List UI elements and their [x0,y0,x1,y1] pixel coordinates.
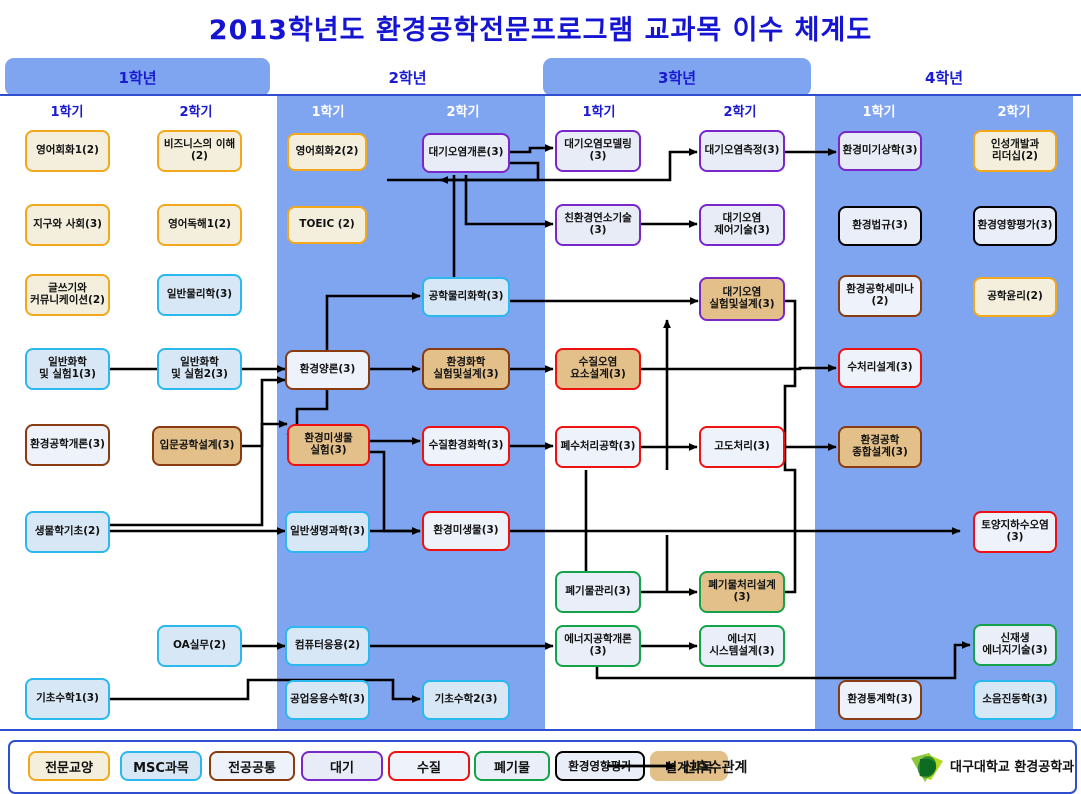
course-box[interactable]: 영어회화1(2) [25,130,110,172]
course-label: 친환경연소기술(3) [564,213,632,237]
course-label: 글쓰기와커뮤니케이션(2) [30,283,105,307]
course-box[interactable]: 환경영향평가(3) [973,206,1057,246]
course-box[interactable]: 일반물리학(3) [157,274,242,316]
course-label: 폐기물관리(3) [565,586,630,598]
course-box[interactable]: 컴퓨터응용(2) [285,626,370,666]
course-box[interactable]: 기초수학1(3) [25,678,110,720]
course-box[interactable]: 고도처리(3) [699,426,785,468]
course-box[interactable]: 대기오염모델링(3) [555,130,641,172]
course-label: 폐수처리공학(3) [561,441,636,453]
course-label: 영어회화1(2) [36,145,99,157]
course-box[interactable]: 글쓰기와커뮤니케이션(2) [25,274,110,316]
course-box[interactable]: 폐수처리공학(3) [555,426,641,468]
course-label: 생물학기초(2) [35,526,100,538]
course-box[interactable]: 인성개발과리더십(2) [973,130,1057,172]
course-box[interactable]: 대기오염실험및설계(3) [699,277,785,321]
course-label: 신재생에너지기술(3) [982,633,1047,657]
course-label: 대기오염개론(3) [429,147,504,159]
course-label: 환경통계학(3) [847,694,912,706]
course-label: 수질오염요소설계(3) [570,357,626,381]
course-box[interactable]: 생물학기초(2) [25,511,110,553]
course-box[interactable]: 환경통계학(3) [838,680,922,720]
course-box[interactable]: 환경공학종합설계(3) [838,426,922,468]
course-label: 대기오염실험및설계(3) [709,287,774,311]
course-box[interactable]: 공학물리화학(3) [422,277,510,317]
course-label: 지구와 사회(3) [33,219,102,231]
course-box[interactable]: 친환경연소기술(3) [555,204,641,246]
course-box[interactable]: 수처리설계(3) [838,348,922,388]
course-box[interactable]: 영어회화2(2) [287,133,367,171]
course-label: 고도처리(3) [714,441,770,453]
course-label: 대기오염측정(3) [705,145,780,157]
course-box[interactable]: 토양지하수오염(3) [973,511,1057,553]
course-box[interactable]: 신재생에너지기술(3) [973,624,1057,666]
course-label: 환경법규(3) [852,220,908,232]
course-box[interactable]: 환경미생물실험(3) [287,424,370,466]
course-box[interactable]: 환경화학실험및설계(3) [422,348,510,390]
course-box[interactable]: 폐기물관리(3) [555,571,641,613]
course-label: 인성개발과리더십(2) [991,139,1039,163]
course-label: 환경미기상학(3) [843,145,918,157]
course-box[interactable]: 일반화학및 실험2(3) [157,348,242,390]
course-label: 환경양론(3) [300,364,356,376]
course-label: 일반화학및 실험1(3) [39,357,96,381]
course-box[interactable]: 수질오염요소설계(3) [555,348,641,390]
prerequisite-arrows [0,0,1081,794]
course-label: 환경공학세미나(2) [846,284,914,308]
course-label: TOEIC (2) [299,219,354,231]
course-label: 수질환경화학(3) [429,440,504,452]
course-box[interactable]: 지구와 사회(3) [25,204,110,246]
course-label: 공학윤리(2) [987,291,1043,303]
course-label: 기초수학2(3) [435,694,498,706]
course-box[interactable]: 수질환경화학(3) [422,426,510,466]
course-box[interactable]: 환경공학세미나(2) [838,275,922,317]
course-box[interactable]: 환경법규(3) [838,206,922,246]
course-label: 환경영향평가(3) [978,220,1053,232]
course-box[interactable]: OA실무(2) [157,625,242,667]
course-label: 컴퓨터응용(2) [295,640,360,652]
diagram-canvas: 2013학년도 환경공학전문프로그램 교과목 이수 체계도 1학년 2학년 3학… [0,0,1081,794]
course-box[interactable]: 환경공학개론(3) [25,424,110,466]
course-box[interactable]: 대기오염제어기술(3) [699,204,785,246]
course-box[interactable]: 환경미기상학(3) [838,131,922,171]
course-label: 환경미생물(3) [433,525,498,537]
course-box[interactable]: 환경미생물(3) [422,511,510,551]
course-label: 일반물리학(3) [167,289,232,301]
course-box[interactable]: 에너지시스템설계(3) [699,625,785,667]
course-box[interactable]: 공학윤리(2) [973,277,1057,317]
course-box[interactable]: 환경양론(3) [285,350,370,390]
course-box[interactable]: 일반생명과학(3) [285,511,370,553]
course-label: 에너지시스템설계(3) [709,634,774,658]
course-label: 환경화학실험및설계(3) [433,357,498,381]
course-label: 에너지공학개론(3) [564,634,632,658]
course-box[interactable]: 기초수학2(3) [422,680,510,720]
course-label: 영어회화2(2) [296,146,359,158]
course-box[interactable]: 공업응용수학(3) [285,680,370,720]
course-box[interactable]: 소음진동학(3) [973,680,1057,720]
course-box[interactable]: 일반화학및 실험1(3) [25,348,110,390]
course-label: 일반화학및 실험2(3) [171,357,228,381]
course-label: 영어독해1(2) [168,219,231,231]
course-box[interactable]: 영어독해1(2) [157,204,242,246]
course-box[interactable]: 대기오염측정(3) [699,130,785,172]
course-label: 공업응용수학(3) [290,694,365,706]
course-label: 수처리설계(3) [847,362,912,374]
course-label: 입문공학설계(3) [160,440,235,452]
course-box[interactable]: 비즈니스의 이해(2) [157,130,242,172]
course-box[interactable]: 폐기물처리설계(3) [699,571,785,613]
course-label: 대기오염모델링(3) [564,139,632,163]
course-box[interactable]: 입문공학설계(3) [152,426,242,466]
course-label: 공학물리화학(3) [429,291,504,303]
course-label: 환경공학개론(3) [30,439,105,451]
course-box[interactable]: 에너지공학개론(3) [555,625,641,667]
course-label: 소음진동학(3) [982,694,1047,706]
course-label: 대기오염제어기술(3) [714,213,770,237]
course-box[interactable]: TOEIC (2) [287,206,367,244]
course-label: 토양지하수오염(3) [981,520,1049,544]
course-label: 환경미생물실험(3) [304,433,352,457]
course-label: OA실무(2) [173,640,226,652]
course-label: 폐기물처리설계(3) [708,580,776,604]
course-label: 일반생명과학(3) [290,526,365,538]
course-label: 기초수학1(3) [36,693,99,705]
course-label: 환경공학종합설계(3) [852,435,908,459]
course-box[interactable]: 대기오염개론(3) [422,133,510,173]
course-label: 비즈니스의 이해(2) [164,139,235,163]
